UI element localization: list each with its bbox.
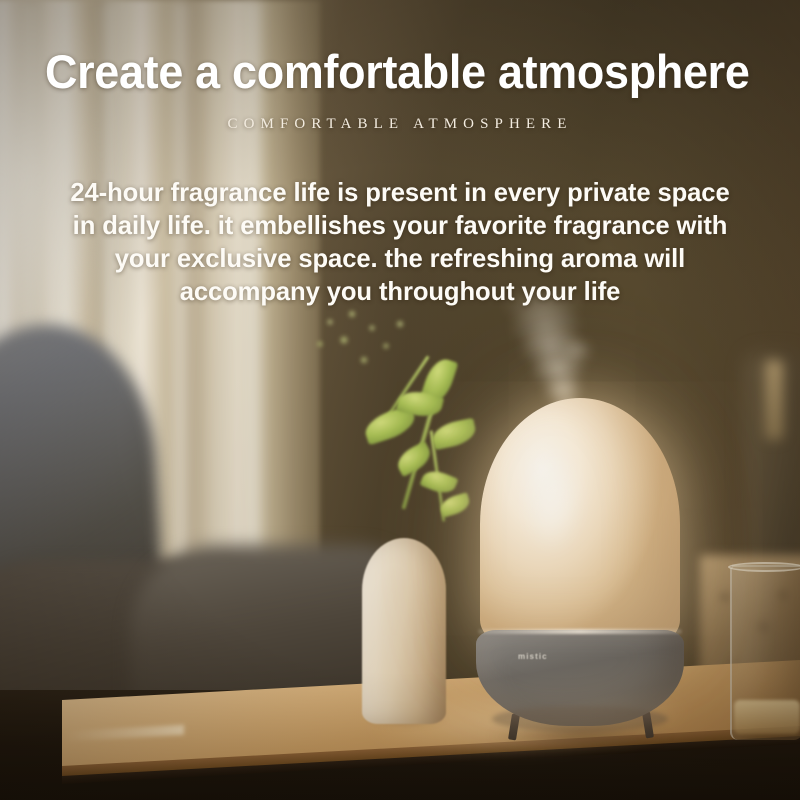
diffuser-seam	[478, 629, 682, 634]
plant-leaf	[438, 492, 472, 518]
plant	[300, 300, 490, 550]
drinking-glass-base	[734, 700, 800, 734]
plant-buds	[312, 306, 424, 382]
drinking-glass-rim	[728, 562, 800, 572]
background-bottle-neck	[765, 360, 783, 440]
aroma-diffuser[interactable]: mistic	[472, 398, 688, 738]
plant-leaf	[430, 418, 478, 451]
product-banner-scene: mistic Create a comfortable atmosphere C…	[0, 0, 800, 800]
diffuser-brand-mark: mistic	[518, 652, 548, 661]
diffuser-dome-highlight	[512, 424, 590, 574]
ceramic-vase	[362, 538, 446, 724]
diffuser-base-rim	[492, 706, 668, 732]
